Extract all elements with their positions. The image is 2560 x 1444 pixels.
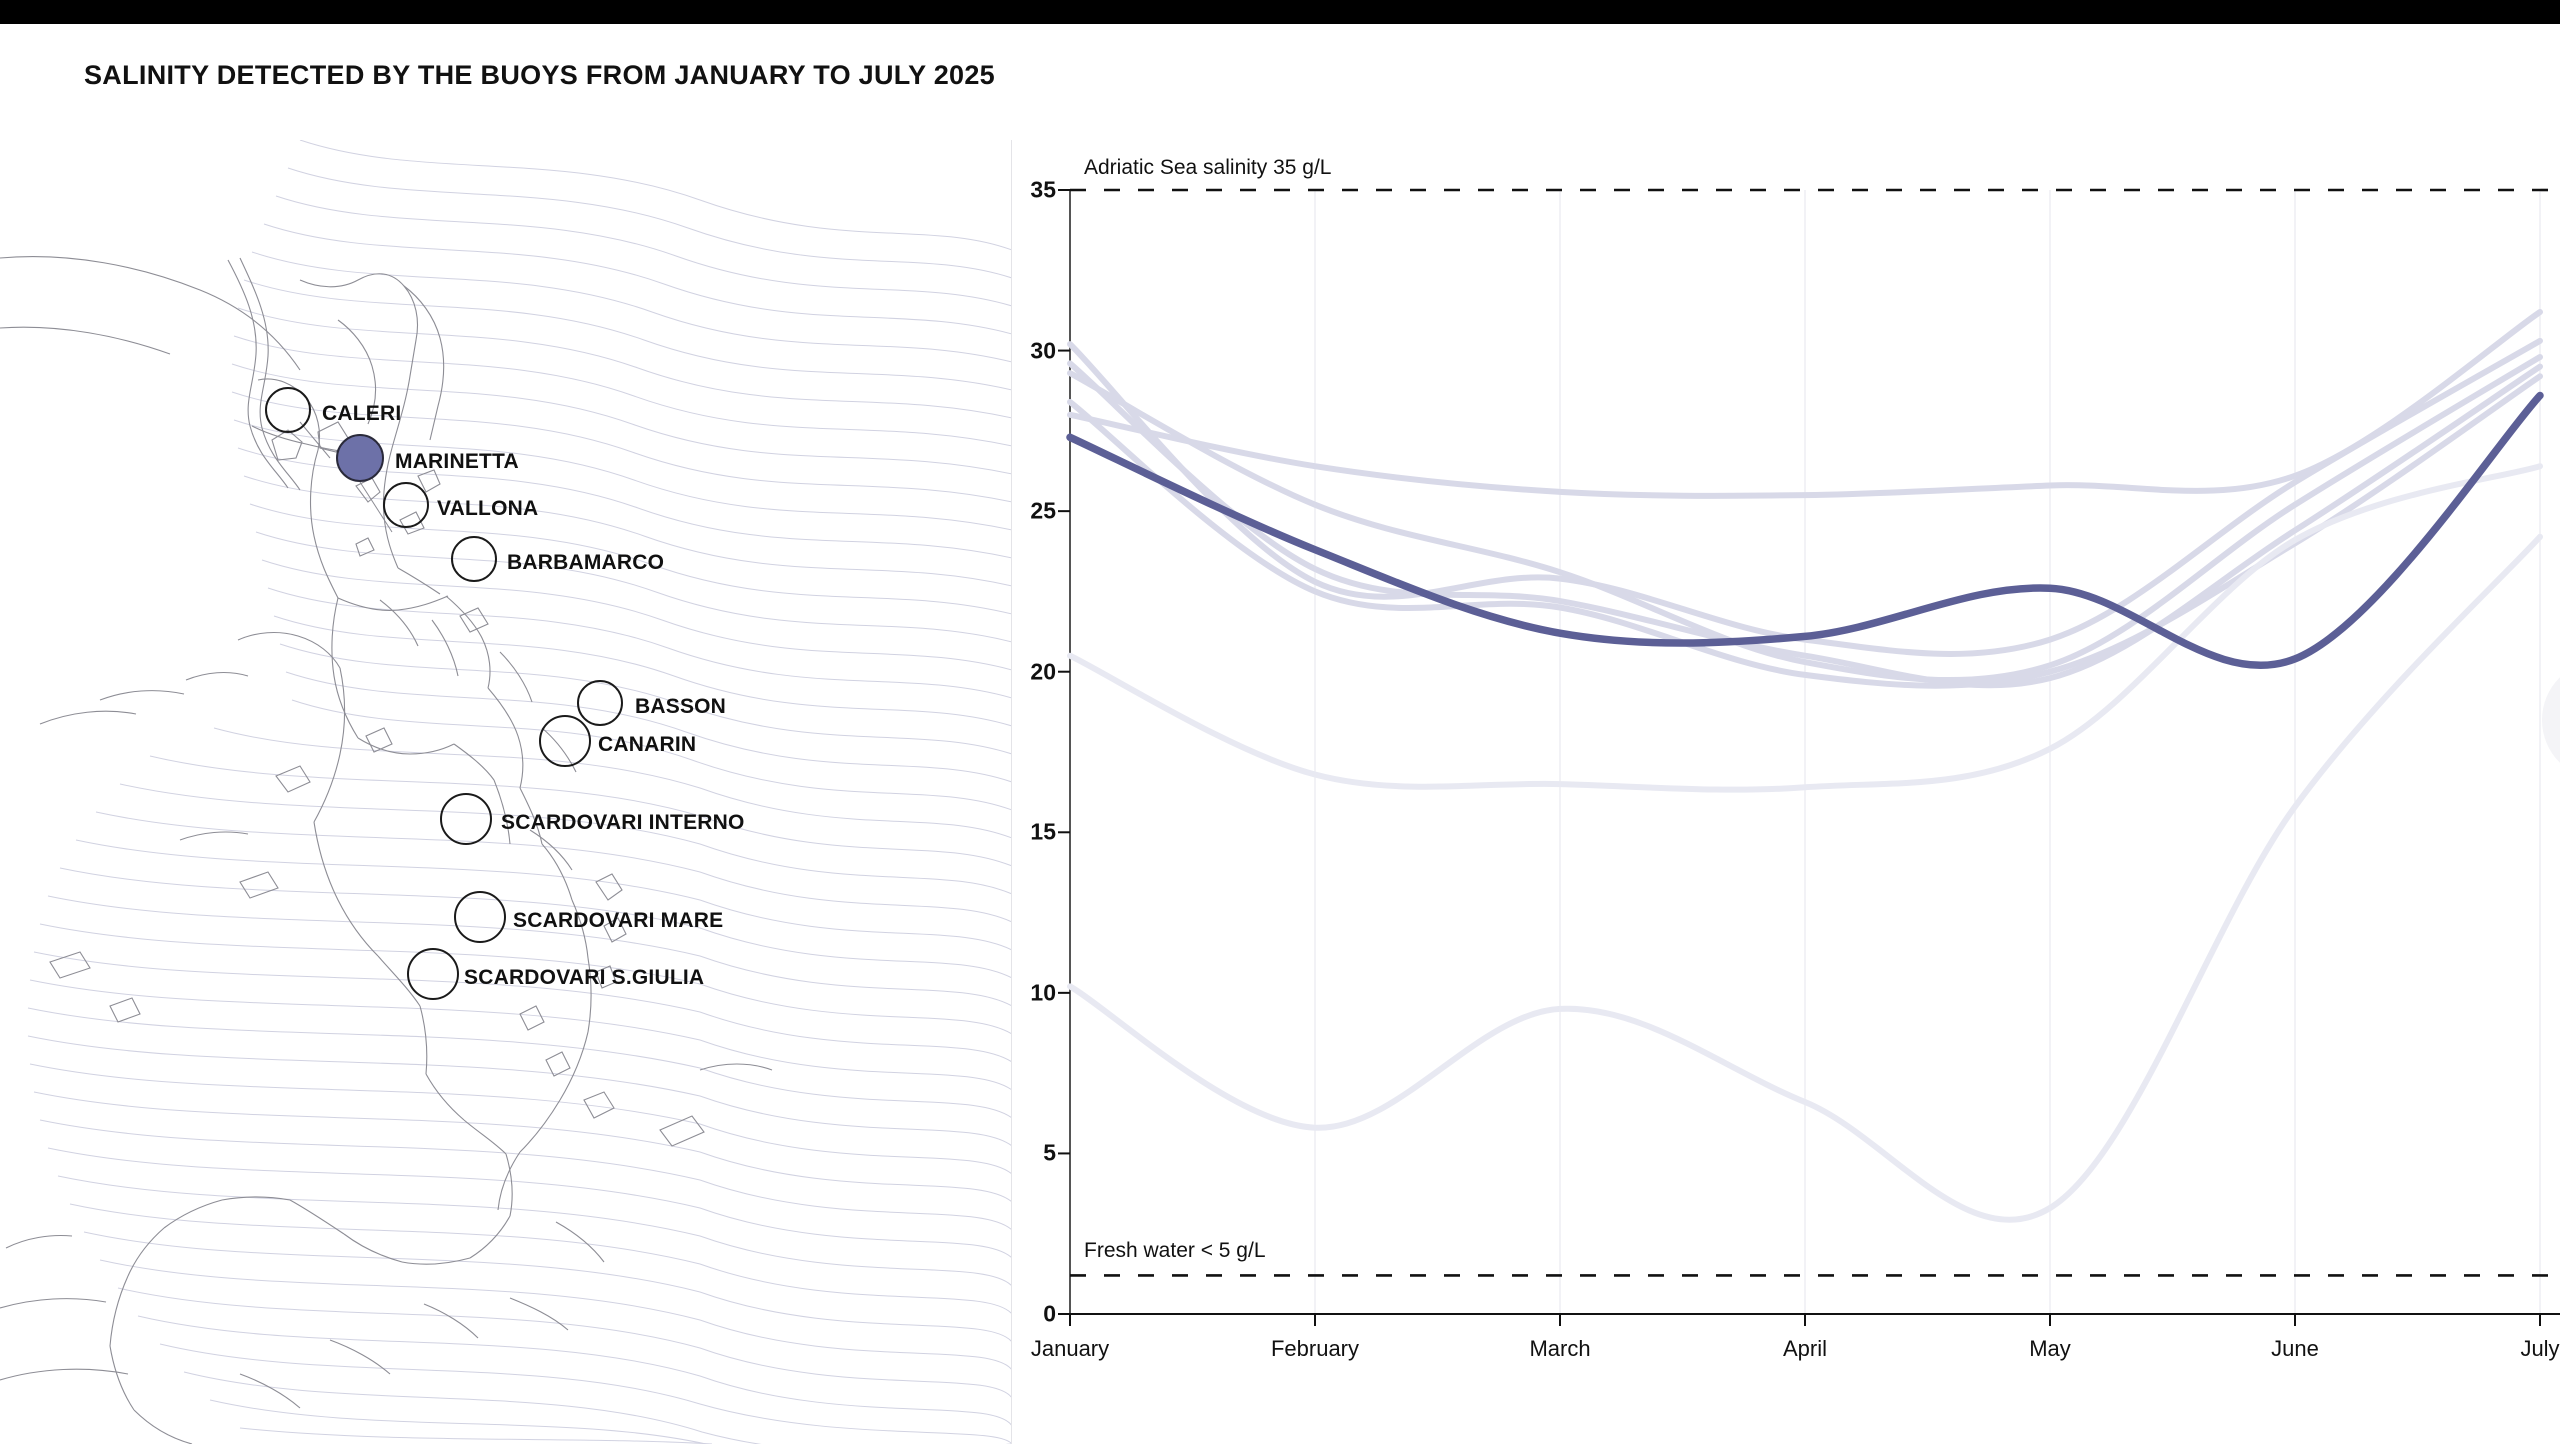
map-panel: CALERIMARINETTAVALLONABARBAMARCOBASSONCA… xyxy=(0,140,1012,1444)
buoy-marker-barbamarco[interactable] xyxy=(451,536,497,582)
reference-lines xyxy=(1070,190,2560,1275)
map-svg xyxy=(0,140,1012,1444)
y-tick-30: 30 xyxy=(1012,337,1056,364)
y-tick-15: 15 xyxy=(1012,819,1056,846)
buoy-marker-vallona[interactable] xyxy=(383,482,429,528)
buoy-label-scardovari-mare: SCARDOVARI MARE xyxy=(513,909,723,933)
x-tick-april: April xyxy=(1783,1336,1827,1362)
vertical-gridlines xyxy=(1315,190,2540,1314)
buoy-label-canarin: CANARIN xyxy=(598,733,696,757)
page-title: SALINITY DETECTED BY THE BUOYS FROM JANU… xyxy=(84,60,995,91)
coastline-outline xyxy=(0,257,772,1444)
x-tick-january: January xyxy=(1031,1336,1109,1362)
buoy-marker-basson[interactable] xyxy=(577,680,623,726)
buoy-label-caleri: CALERI xyxy=(322,402,401,426)
buoy-marker-marinetta[interactable] xyxy=(336,434,384,482)
buoy-marker-scardovari-mare[interactable] xyxy=(454,891,506,943)
x-tick-march: March xyxy=(1529,1336,1590,1362)
y-tick-0: 0 xyxy=(1012,1301,1056,1328)
y-tick-5: 5 xyxy=(1012,1140,1056,1167)
top-black-bar xyxy=(0,0,2560,24)
buoy-label-basson: BASSON xyxy=(635,695,726,719)
chart-panel: Adriatic Sea salinity 35 g/L Fresh water… xyxy=(1012,140,2560,1444)
x-tick-june: June xyxy=(2271,1336,2319,1362)
x-tick-february: February xyxy=(1271,1336,1359,1362)
y-tick-10: 10 xyxy=(1012,979,1056,1006)
screenshot-root: SALINITY DETECTED BY THE BUOYS FROM JANU… xyxy=(0,0,2560,1444)
buoy-label-vallona: VALLONA xyxy=(437,497,538,521)
x-tick-july: July xyxy=(2520,1336,2559,1362)
buoy-marker-canarin[interactable] xyxy=(539,715,591,767)
y-tick-35: 35 xyxy=(1012,177,1056,204)
x-tick-may: May xyxy=(2029,1336,2071,1362)
y-tick-25: 25 xyxy=(1012,498,1056,525)
buoy-label-scardovari-interno: SCARDOVARI INTERNO xyxy=(501,811,745,835)
y-tick-20: 20 xyxy=(1012,658,1056,685)
buoy-label-marinetta: MARINETTA xyxy=(395,450,519,474)
sea-contour-lines xyxy=(28,140,1012,1444)
buoy-label-barbamarco: BARBAMARCO xyxy=(507,551,664,575)
buoy-marker-scardovari-s-giulia[interactable] xyxy=(407,948,459,1000)
fresh-water-annotation: Fresh water < 5 g/L xyxy=(1084,1239,1266,1263)
buoy-marker-caleri[interactable] xyxy=(265,387,311,433)
buoy-label-scardovari-s-giulia: SCARDOVARI S.GIULIA xyxy=(464,966,704,990)
buoy-marker-scardovari-interno[interactable] xyxy=(440,793,492,845)
adriatic-sea-annotation: Adriatic Sea salinity 35 g/L xyxy=(1084,156,1331,180)
